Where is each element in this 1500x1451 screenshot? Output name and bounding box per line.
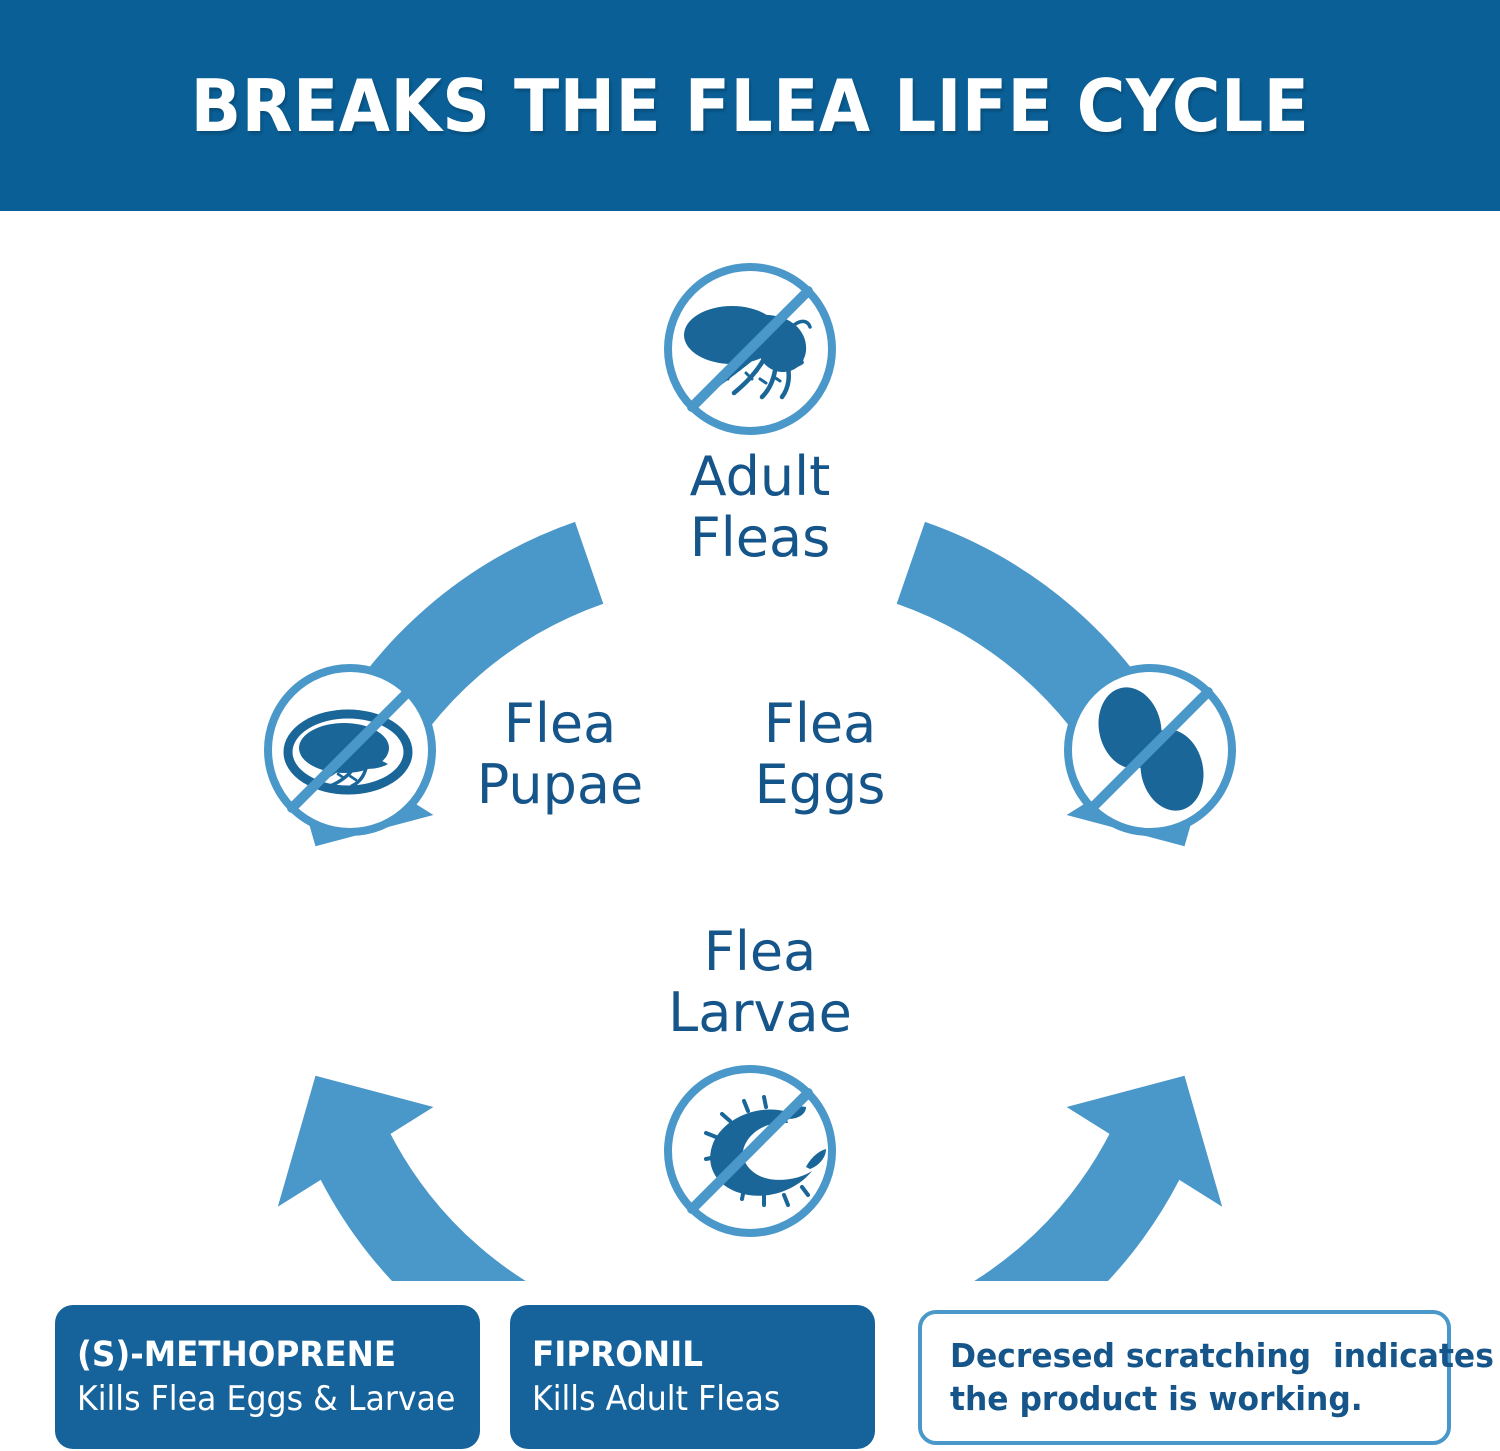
stage-label-flea-larvae: Flea Larvae [560,921,960,1043]
badge-methoprene-subtitle: Kills Flea Eggs & Larvae [77,1378,431,1422]
scratching-note-line1: Decresed scratching indicates [950,1335,1396,1378]
badge-scratching-note: Decresed scratching indicates the produc… [918,1310,1451,1445]
badge-methoprene-title: (S)-METHOPRENE [77,1333,431,1378]
badge-fipronil-subtitle: Kills Adult Fleas [532,1378,831,1422]
scratching-note-line2: the product is working. [950,1378,1396,1421]
header-banner: BREAKS THE FLEA LIFE CYCLE [0,0,1500,211]
no-flea-pupae-icon[interactable] [268,668,432,832]
no-adult-flea-icon[interactable] [668,267,832,431]
flea-life-cycle-diagram: Adult Fleas Flea Eggs Flea Larvae Flea P… [0,211,1500,1281]
arrow-larvae-to-pupae [278,1076,604,1281]
ingredient-badge-row: (S)-METHOPRENE Kills Flea Eggs & Larvae … [0,1305,1500,1451]
stage-label-flea-pupae: Flea Pupae [440,693,680,815]
badge-methoprene[interactable]: (S)-METHOPRENE Kills Flea Eggs & Larvae [55,1305,480,1449]
stage-label-adult-fleas: Adult Fleas [560,446,960,568]
badge-fipronil[interactable]: FIPRONIL Kills Adult Fleas [510,1305,875,1449]
no-flea-eggs-icon[interactable] [1068,668,1232,832]
arrow-eggs-to-larvae [897,1076,1222,1281]
badge-fipronil-title: FIPRONIL [532,1333,831,1378]
page-title: BREAKS THE FLEA LIFE CYCLE [191,64,1310,148]
stage-label-flea-eggs: Flea Eggs [700,693,940,815]
no-flea-larvae-icon[interactable] [668,1069,832,1233]
